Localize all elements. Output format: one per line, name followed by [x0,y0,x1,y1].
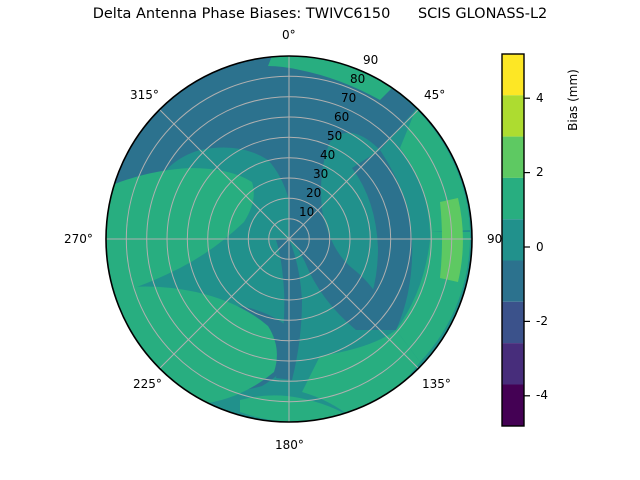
colorbar-band [502,261,524,302]
colorbar-tick-label-neg2: -2 [536,314,548,328]
azimuth-label-180: 180° [275,438,304,452]
colorbar-band [502,54,524,95]
colorbar-tick-label-4: 4 [536,91,544,105]
radial-label-20: 20 [306,186,321,200]
radial-label-70: 70 [341,91,356,105]
polar-chart-figure: Delta Antenna Phase Biases: TWIVC6150 SC… [0,0,640,480]
colorbar-band [502,302,524,343]
polar-plot-canvas [0,0,640,480]
page-title: Delta Antenna Phase Biases: TWIVC6150 SC… [0,6,640,22]
colorbar-band [502,219,524,260]
colorbar-tick-label-0: 0 [536,240,544,254]
radial-label-10: 10 [299,205,314,219]
colorbar-tick-label-2: 2 [536,165,544,179]
colorbar [502,54,530,426]
colorbar-band [502,137,524,178]
azimuth-label-225: 225° [133,377,162,391]
azimuth-label-45: 45° [424,88,445,102]
colorbar-band [502,95,524,136]
polar-grid-spokes [106,56,472,422]
azimuth-label-270: 270° [64,232,93,246]
radial-label-80: 80 [350,72,365,86]
radial-label-40: 40 [320,148,335,162]
azimuth-label-0: 0° [282,28,296,42]
colorbar-axis-label: Bias (mm) [566,30,580,170]
colorbar-band [502,178,524,219]
radial-label-50: 50 [327,129,342,143]
azimuth-label-90: 90 [487,232,502,246]
azimuth-label-135: 135° [422,377,451,391]
radial-label-60: 60 [334,110,349,124]
radial-label-30: 30 [313,167,328,181]
radial-label-90: 90 [363,53,378,67]
colorbar-band [502,385,524,427]
azimuth-label-315: 315° [130,88,159,102]
colorbar-tick-label-neg4: -4 [536,388,548,402]
colorbar-ticks [524,98,530,396]
colorbar-band [502,343,524,384]
